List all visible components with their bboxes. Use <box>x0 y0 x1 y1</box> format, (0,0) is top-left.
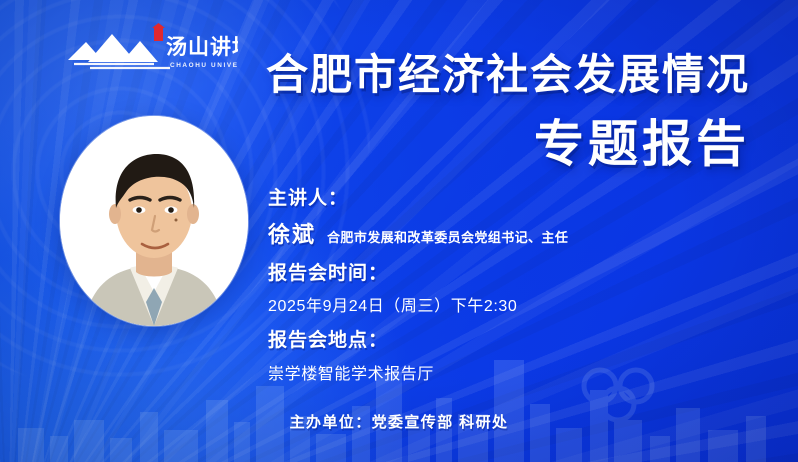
speaker-row: 徐斌 合肥市发展和改革委员会党组书记、主任 <box>268 217 568 249</box>
speaker-label: 主讲人： <box>268 186 568 212</box>
red-pagoda-icon <box>152 23 165 41</box>
headline-line-2: 专题报告 <box>266 119 750 170</box>
svg-text:CHAOHU UNIVERSITY: CHAOHU UNIVERSITY <box>170 62 238 69</box>
water-lines-icon <box>74 64 170 68</box>
place-value: 崇学楼智能学术报告厅 <box>268 360 568 384</box>
lecture-poster: 汤山讲坛 CHAOHU UNIVERSITY <box>0 0 798 462</box>
svg-text:汤山讲坛: 汤山讲坛 <box>166 35 238 59</box>
speaker-name: 徐斌 <box>268 217 316 249</box>
event-details: 主讲人： 徐斌 合肥市发展和改革委员会党组书记、主任 报告会时间： 2025年9… <box>268 186 568 384</box>
headline: 合肥市经济社会发展情况 专题报告 <box>266 54 750 170</box>
organizers: 主办单位：党委宣传部 科研处 <box>0 411 798 432</box>
headline-line-1: 合肥市经济社会发展情况 <box>266 54 750 97</box>
place-label: 报告会地点： <box>268 328 568 354</box>
mountain-icon <box>68 34 158 62</box>
speaker-portrait <box>60 116 248 326</box>
chaohu-university-logo: 汤山讲坛 CHAOHU UNIVERSITY <box>66 22 238 74</box>
time-value: 2025年9月24日（周三）下午2:30 <box>268 292 568 316</box>
time-label: 报告会时间： <box>268 261 568 287</box>
speaker-title: 合肥市发展和改革委员会党组书记、主任 <box>327 227 568 246</box>
